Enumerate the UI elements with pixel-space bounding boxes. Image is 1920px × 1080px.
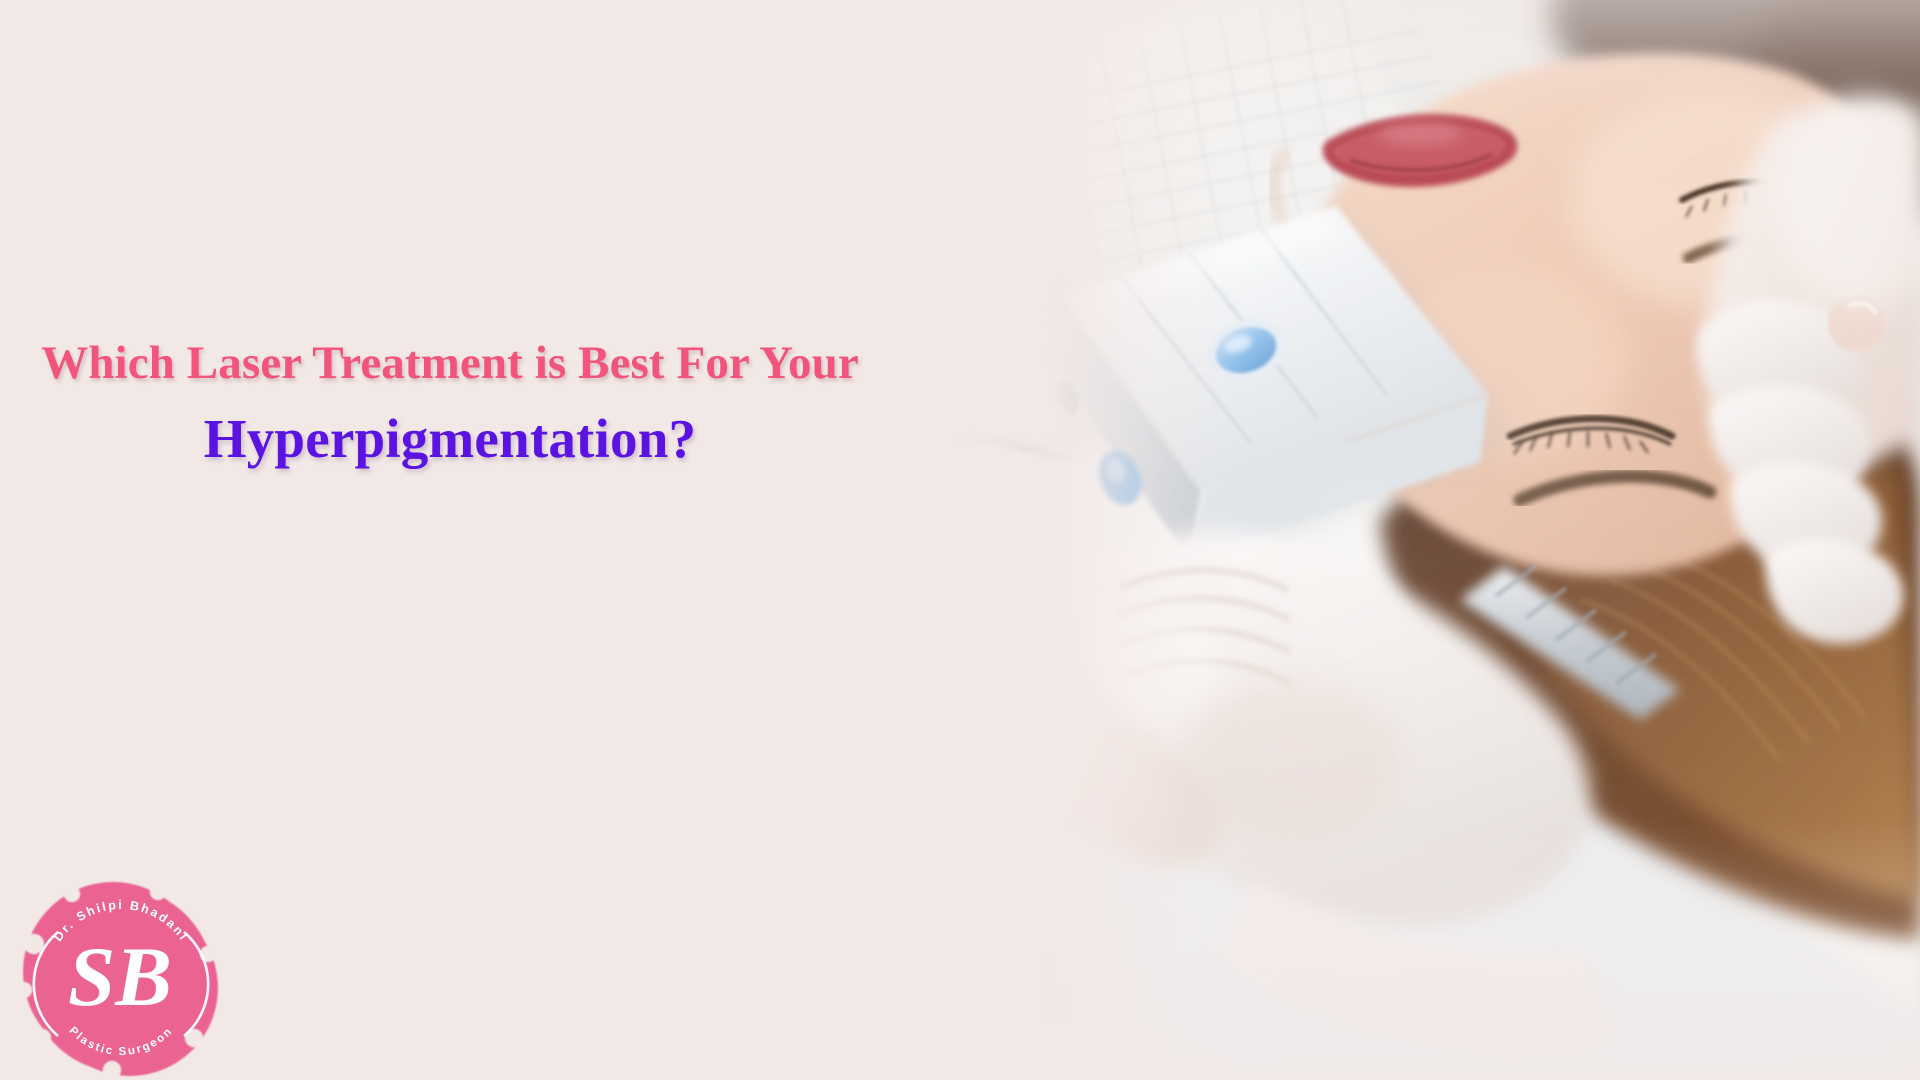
photo-haze [820, 0, 1920, 1080]
svg-text:SB: SB [68, 930, 172, 1024]
brand-logo[interactable]: Dr. Shilpi Bhadani Plastic Surgeon SB [16, 870, 226, 1080]
treatment-photo [820, 0, 1920, 1080]
headline-line-2: Hyperpigmentation? [0, 411, 900, 466]
brand-logo-mark: Dr. Shilpi Bhadani Plastic Surgeon SB [16, 870, 226, 1080]
logo-monogram: SB [68, 930, 172, 1024]
headline: Which Laser Treatment is Best For Your H… [0, 340, 900, 466]
treatment-photo-illustration [820, 0, 1920, 1080]
headline-line-1: Which Laser Treatment is Best For Your [0, 340, 900, 387]
promo-banner: Which Laser Treatment is Best For Your H… [0, 0, 1920, 1080]
